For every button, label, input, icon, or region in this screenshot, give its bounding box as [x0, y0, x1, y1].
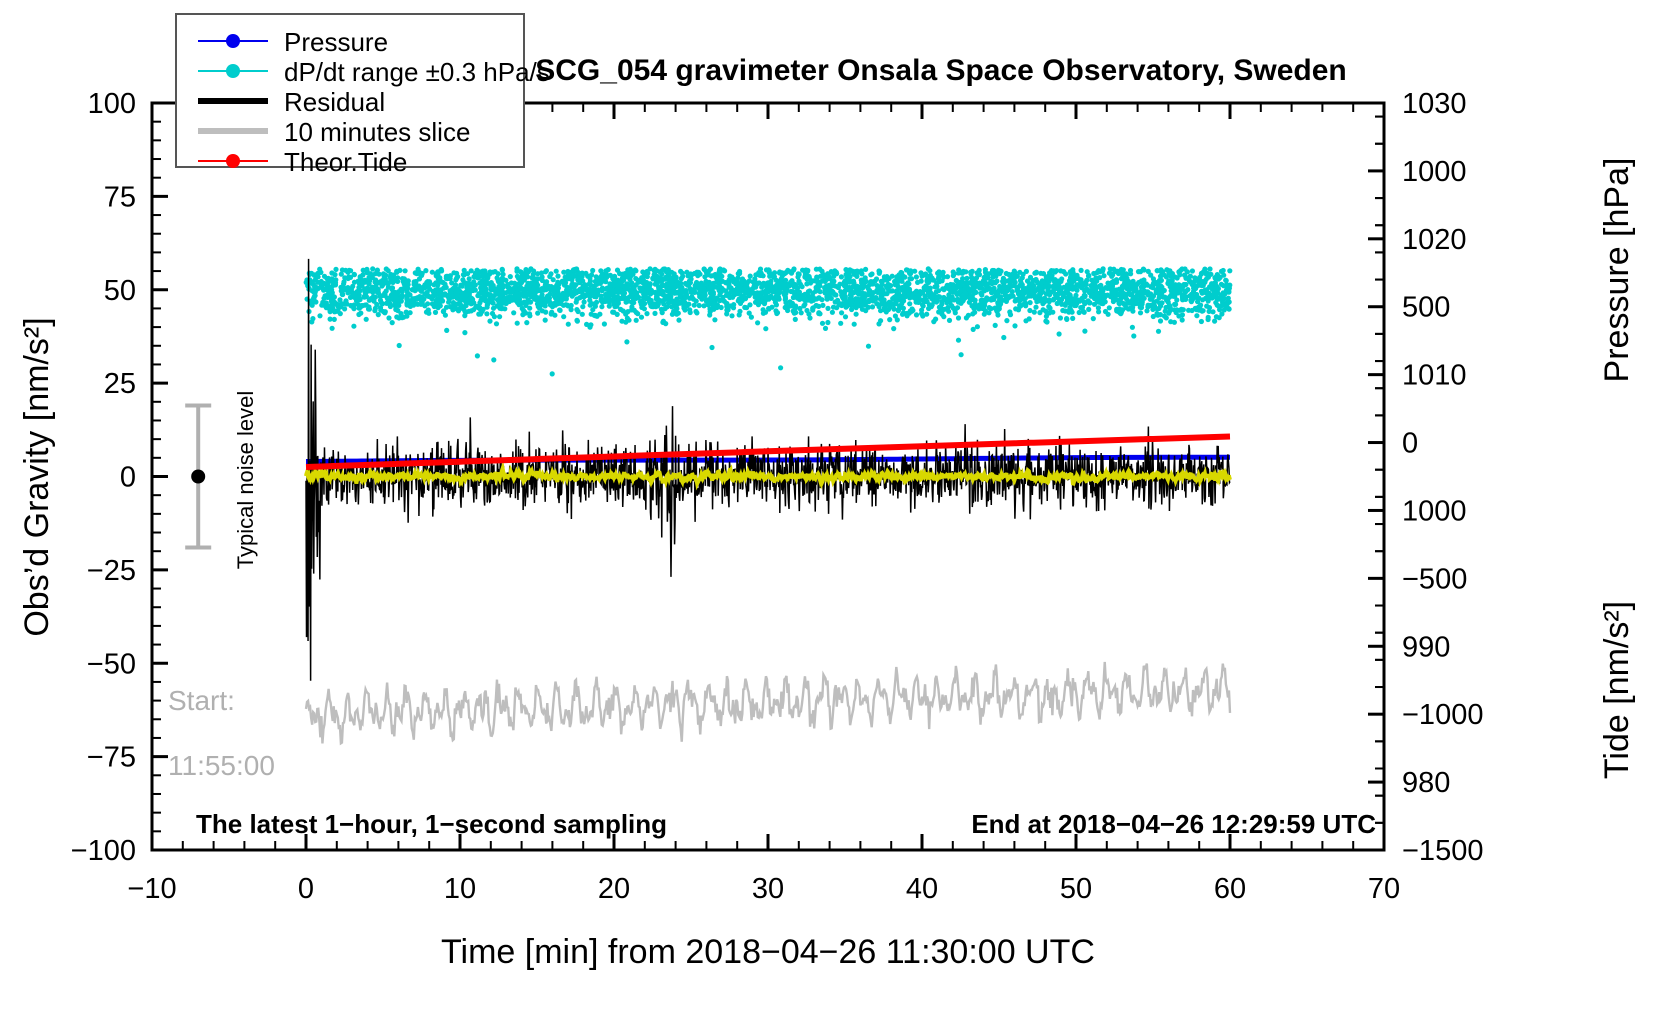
dpdt-point	[389, 292, 394, 297]
dpdt-point	[324, 276, 329, 281]
dpdt-point	[612, 280, 617, 285]
dpdt-point	[583, 271, 588, 276]
dpdt-point	[964, 315, 969, 320]
dpdt-point	[397, 343, 402, 348]
dpdt-point	[320, 285, 325, 290]
dpdt-point	[731, 302, 736, 307]
dpdt-point	[956, 315, 961, 320]
dpdt-point	[854, 312, 859, 317]
dpdt-point	[714, 296, 719, 301]
dpdt-point	[903, 282, 908, 287]
dpdt-point	[840, 295, 845, 300]
dpdt-point	[738, 301, 743, 306]
dpdt-point	[359, 282, 364, 287]
dpdt-point	[1141, 267, 1146, 272]
dpdt-point	[1171, 294, 1176, 299]
dpdt-point	[498, 278, 503, 283]
dpdt-point	[847, 285, 852, 290]
y-axis-right-pressure-title: Pressure [hPa]	[1598, 158, 1636, 383]
dpdt-point	[632, 285, 637, 290]
dpdt-point	[395, 279, 400, 284]
dpdt-point	[607, 284, 612, 289]
dpdt-point	[574, 318, 579, 323]
dpdt-point	[480, 271, 485, 276]
dpdt-point	[1001, 280, 1006, 285]
dpdt-point	[490, 311, 495, 316]
dpdt-point	[731, 276, 736, 281]
dpdt-point	[1007, 309, 1012, 314]
dpdt-point	[832, 283, 837, 288]
dpdt-point	[628, 267, 633, 272]
dpdt-point	[528, 292, 533, 297]
dpdt-point	[1145, 304, 1150, 309]
dpdt-point	[717, 271, 722, 276]
dpdt-point	[931, 299, 936, 304]
dpdt-point	[1105, 286, 1110, 291]
dpdt-point	[1071, 270, 1076, 275]
dpdt-point	[334, 309, 339, 314]
axis-tick-label: 30	[752, 873, 784, 905]
dpdt-point	[496, 288, 501, 293]
dpdt-point	[505, 295, 510, 300]
dpdt-point	[356, 312, 361, 317]
dpdt-point	[329, 270, 334, 275]
dpdt-point	[1148, 273, 1153, 278]
dpdt-point	[364, 267, 369, 272]
dpdt-point	[712, 317, 717, 322]
dpdt-point	[1027, 316, 1032, 321]
dpdt-point	[462, 330, 467, 335]
dpdt-point	[475, 275, 480, 280]
dpdt-point	[1207, 309, 1212, 314]
dpdt-point	[804, 276, 809, 281]
dpdt-point	[629, 304, 634, 309]
dpdt-point	[1127, 306, 1132, 311]
dpdt-point	[345, 288, 350, 293]
dpdt-point	[564, 296, 569, 301]
dpdt-point	[543, 318, 548, 323]
dpdt-point	[855, 269, 860, 274]
dpdt-point	[620, 276, 625, 281]
axis-tick-label: −1000	[1402, 699, 1483, 731]
dpdt-point	[599, 274, 604, 279]
dpdt-point	[514, 269, 519, 274]
dpdt-point	[565, 303, 570, 308]
dpdt-point	[854, 274, 859, 279]
dpdt-point	[367, 281, 372, 286]
dpdt-point	[1098, 290, 1103, 295]
dpdt-point	[696, 291, 701, 296]
dpdt-point	[654, 268, 659, 273]
dpdt-point	[519, 280, 524, 285]
dpdt-point	[1100, 299, 1105, 304]
dpdt-point	[844, 275, 849, 280]
dpdt-point	[494, 321, 499, 326]
dpdt-point	[1033, 294, 1038, 299]
axis-tick-label: 100	[88, 88, 136, 120]
dpdt-point	[520, 306, 525, 311]
dpdt-point	[625, 286, 630, 291]
dpdt-point	[905, 268, 910, 273]
dpdt-point	[669, 270, 674, 275]
dpdt-point	[779, 276, 784, 281]
dpdt-point	[724, 302, 729, 307]
dpdt-point	[845, 269, 850, 274]
dpdt-point	[1082, 310, 1087, 315]
dpdt-point	[1012, 269, 1017, 274]
dpdt-point	[390, 320, 395, 325]
dpdt-point	[535, 283, 540, 288]
dpdt-point	[1161, 294, 1166, 299]
dpdt-point	[1169, 288, 1174, 293]
dpdt-point	[497, 295, 502, 300]
dpdt-point	[666, 300, 671, 305]
dpdt-point	[1080, 305, 1085, 310]
dpdt-point	[826, 287, 831, 292]
dpdt-point	[487, 272, 492, 277]
dpdt-point	[849, 289, 854, 294]
dpdt-point	[415, 302, 420, 307]
dpdt-point	[949, 303, 954, 308]
dpdt-point	[810, 278, 815, 283]
dpdt-point	[859, 271, 864, 276]
dpdt-point	[426, 282, 431, 287]
dpdt-point	[400, 293, 405, 298]
dpdt-point	[548, 271, 553, 276]
dpdt-point	[802, 292, 807, 297]
dpdt-point	[487, 319, 492, 324]
dpdt-point	[329, 289, 334, 294]
dpdt-point	[1056, 280, 1061, 285]
dpdt-point	[924, 312, 929, 317]
dpdt-point	[383, 309, 388, 314]
dpdt-point	[838, 321, 843, 326]
dpdt-point	[722, 268, 727, 273]
dpdt-point	[993, 280, 998, 285]
dpdt-point	[431, 282, 436, 287]
dpdt-point	[735, 291, 740, 296]
dpdt-point	[531, 268, 536, 273]
dpdt-point	[647, 299, 652, 304]
dpdt-point	[378, 294, 383, 299]
dpdt-point	[357, 306, 362, 311]
dpdt-point	[634, 318, 639, 323]
dpdt-point	[831, 305, 836, 310]
dpdt-point	[763, 326, 768, 331]
dpdt-point	[329, 284, 334, 289]
axis-tick-label: −1500	[1402, 835, 1483, 867]
dpdt-point	[895, 317, 900, 322]
dpdt-point	[688, 286, 693, 291]
dpdt-point	[913, 290, 918, 295]
dpdt-point	[525, 269, 530, 274]
dpdt-point	[551, 277, 556, 282]
dpdt-point	[789, 289, 794, 294]
dpdt-point	[576, 288, 581, 293]
dpdt-point	[323, 295, 328, 300]
dpdt-point	[1193, 295, 1198, 300]
dpdt-point	[511, 310, 516, 315]
dpdt-point	[1136, 280, 1141, 285]
dpdt-point	[1201, 269, 1206, 274]
dpdt-point	[364, 317, 369, 322]
dpdt-point	[709, 345, 714, 350]
dpdt-point	[956, 338, 961, 343]
dpdt-point	[484, 311, 489, 316]
dpdt-point	[615, 268, 620, 273]
dpdt-point	[574, 307, 579, 312]
dpdt-point	[674, 275, 679, 280]
dpdt-point	[989, 271, 994, 276]
dpdt-point	[540, 308, 545, 313]
dpdt-point	[820, 321, 825, 326]
dpdt-point	[890, 274, 895, 279]
axis-tick-label: −75	[87, 742, 136, 774]
dpdt-point	[460, 277, 465, 282]
dpdt-point	[599, 304, 604, 309]
dpdt-point	[376, 287, 381, 292]
dpdt-point	[959, 287, 964, 292]
dpdt-point	[875, 283, 880, 288]
dpdt-point	[975, 284, 980, 289]
axis-tick-label: 980	[1402, 767, 1450, 799]
dpdt-point	[1164, 274, 1169, 279]
dpdt-point	[483, 298, 488, 303]
dpdt-point	[897, 278, 902, 283]
axis-tick-label: −500	[1402, 563, 1467, 595]
dpdt-point	[795, 286, 800, 291]
dpdt-point	[684, 270, 689, 275]
dpdt-point	[931, 294, 936, 299]
gravimeter-plot: −10010203040506070−100−75−50−25025507510…	[0, 0, 1676, 1020]
dpdt-point	[561, 314, 566, 319]
dpdt-point	[756, 270, 761, 275]
axis-tick-label: 0	[1402, 428, 1418, 460]
dpdt-point	[1016, 291, 1021, 296]
dpdt-point	[927, 302, 932, 307]
dpdt-point	[649, 291, 654, 296]
dpdt-point	[1120, 293, 1125, 298]
dpdt-point	[1058, 315, 1063, 320]
dpdt-point	[959, 352, 964, 357]
dpdt-point	[640, 280, 645, 285]
dpdt-point	[599, 279, 604, 284]
dpdt-point	[474, 304, 479, 309]
dpdt-point	[1004, 271, 1009, 276]
dpdt-point	[1107, 305, 1112, 310]
dpdt-point	[825, 306, 830, 311]
dpdt-point	[607, 304, 612, 309]
dpdt-point	[866, 305, 871, 310]
start-label: Start:	[168, 685, 235, 716]
dpdt-point	[929, 276, 934, 281]
dpdt-point	[1019, 280, 1024, 285]
dpdt-point	[1216, 276, 1221, 281]
dpdt-point	[1089, 283, 1094, 288]
dpdt-point	[386, 315, 391, 320]
dpdt-point	[750, 290, 755, 295]
dpdt-point	[571, 283, 576, 288]
dpdt-point	[433, 310, 438, 315]
dpdt-point	[1130, 325, 1135, 330]
axis-tick-label: 75	[104, 181, 136, 213]
dpdt-point	[977, 268, 982, 273]
dpdt-point	[328, 309, 333, 314]
dpdt-point	[362, 295, 367, 300]
dpdt-point	[751, 280, 756, 285]
dpdt-point	[376, 312, 381, 317]
dpdt-point	[863, 275, 868, 280]
dpdt-point	[843, 314, 848, 319]
legend-marker-icon	[226, 64, 240, 78]
dpdt-point	[425, 301, 430, 306]
axis-tick-label: 0	[298, 873, 314, 905]
dpdt-point	[310, 288, 315, 293]
dpdt-point	[1194, 313, 1199, 318]
dpdt-point	[345, 270, 350, 275]
dpdt-point	[1079, 268, 1084, 273]
dpdt-point	[923, 271, 928, 276]
dpdt-point	[393, 307, 398, 312]
dpdt-point	[396, 289, 401, 294]
dpdt-point	[1194, 307, 1199, 312]
dpdt-point	[895, 295, 900, 300]
y-axis-left-title: Obs’d Gravity [nm/s²]	[18, 317, 56, 636]
dpdt-point	[709, 283, 714, 288]
dpdt-point	[866, 344, 871, 349]
dpdt-point	[1200, 309, 1205, 314]
dpdt-point	[907, 301, 912, 306]
dpdt-point	[678, 269, 683, 274]
dpdt-point	[968, 297, 973, 302]
dpdt-point	[452, 305, 457, 310]
dpdt-point	[500, 268, 505, 273]
dpdt-point	[544, 268, 549, 273]
dpdt-point	[622, 291, 627, 296]
dpdt-point	[652, 301, 657, 306]
dpdt-point	[982, 312, 987, 317]
dpdt-point	[901, 310, 906, 315]
dpdt-point	[666, 276, 671, 281]
dpdt-point	[839, 310, 844, 315]
dpdt-point	[671, 290, 676, 295]
dpdt-point	[1032, 310, 1037, 315]
dpdt-point	[580, 278, 585, 283]
dpdt-point	[594, 274, 599, 279]
dpdt-point	[737, 309, 742, 314]
dpdt-point	[1214, 288, 1219, 293]
dpdt-point	[958, 280, 963, 285]
dpdt-point	[1210, 295, 1215, 300]
dpdt-point	[933, 317, 938, 322]
dpdt-point	[791, 295, 796, 300]
dpdt-point	[1091, 316, 1096, 321]
dpdt-point	[549, 286, 554, 291]
dpdt-point	[524, 300, 529, 305]
dpdt-point	[1137, 291, 1142, 296]
axis-tick-label: 500	[1402, 292, 1450, 324]
dpdt-point	[648, 281, 653, 286]
footer-note-right: End at 2018−04−26 12:29:59 UTC	[971, 809, 1376, 839]
dpdt-point	[1183, 289, 1188, 294]
dpdt-point	[1045, 274, 1050, 279]
dpdt-point	[727, 295, 732, 300]
dpdt-point	[606, 298, 611, 303]
dpdt-point	[452, 287, 457, 292]
dpdt-point	[783, 296, 788, 301]
axis-tick-label: 50	[1060, 873, 1092, 905]
axis-tick-label: 0	[120, 462, 136, 494]
dpdt-point	[329, 279, 334, 284]
dpdt-point	[995, 312, 1000, 317]
dpdt-point	[1106, 312, 1111, 317]
dpdt-point	[961, 298, 966, 303]
dpdt-point	[603, 269, 608, 274]
dpdt-point	[1156, 329, 1161, 334]
dpdt-point	[1206, 315, 1211, 320]
dpdt-point	[1041, 307, 1046, 312]
axis-tick-label: 10	[444, 873, 476, 905]
dpdt-point	[639, 300, 644, 305]
dpdt-point	[437, 278, 442, 283]
legend[interactable]: PressuredP/dt range ±0.3 hPa/sResidual10…	[176, 14, 550, 177]
dpdt-point	[755, 320, 760, 325]
dpdt-point	[619, 296, 624, 301]
dpdt-point	[330, 326, 335, 331]
dpdt-point	[1174, 288, 1179, 293]
dpdt-point	[881, 288, 886, 293]
dpdt-point	[653, 274, 658, 279]
dpdt-point	[608, 273, 613, 278]
dpdt-point	[408, 310, 413, 315]
dpdt-point	[869, 271, 874, 276]
dpdt-point	[1094, 270, 1099, 275]
dpdt-point	[800, 284, 805, 289]
dpdt-point	[999, 286, 1004, 291]
dpdt-point	[949, 294, 954, 299]
dpdt-point	[1028, 300, 1033, 305]
dpdt-point	[554, 297, 559, 302]
dpdt-point	[434, 273, 439, 278]
dpdt-point	[362, 286, 367, 291]
dpdt-point	[942, 297, 947, 302]
axis-tick-label: 1020	[1402, 224, 1467, 256]
dpdt-point	[378, 308, 383, 313]
legend-marker-icon	[226, 34, 240, 48]
dpdt-point	[948, 289, 953, 294]
dpdt-point	[553, 303, 558, 308]
dpdt-point	[918, 270, 923, 275]
dpdt-point	[481, 307, 486, 312]
axis-tick-label: 60	[1214, 873, 1246, 905]
dpdt-point	[994, 271, 999, 276]
dpdt-point	[643, 272, 648, 277]
dpdt-point	[619, 319, 624, 324]
dpdt-point	[1119, 310, 1124, 315]
dpdt-point	[1227, 268, 1232, 273]
dpdt-point	[496, 301, 501, 306]
dpdt-point	[309, 319, 314, 324]
dpdt-point	[674, 279, 679, 284]
dpdt-point	[623, 312, 628, 317]
dpdt-point	[1180, 312, 1185, 317]
dpdt-point	[462, 268, 467, 273]
dpdt-point	[848, 301, 853, 306]
dpdt-point	[901, 298, 906, 303]
dpdt-point	[775, 310, 780, 315]
dpdt-point	[519, 270, 524, 275]
dpdt-point	[830, 310, 835, 315]
